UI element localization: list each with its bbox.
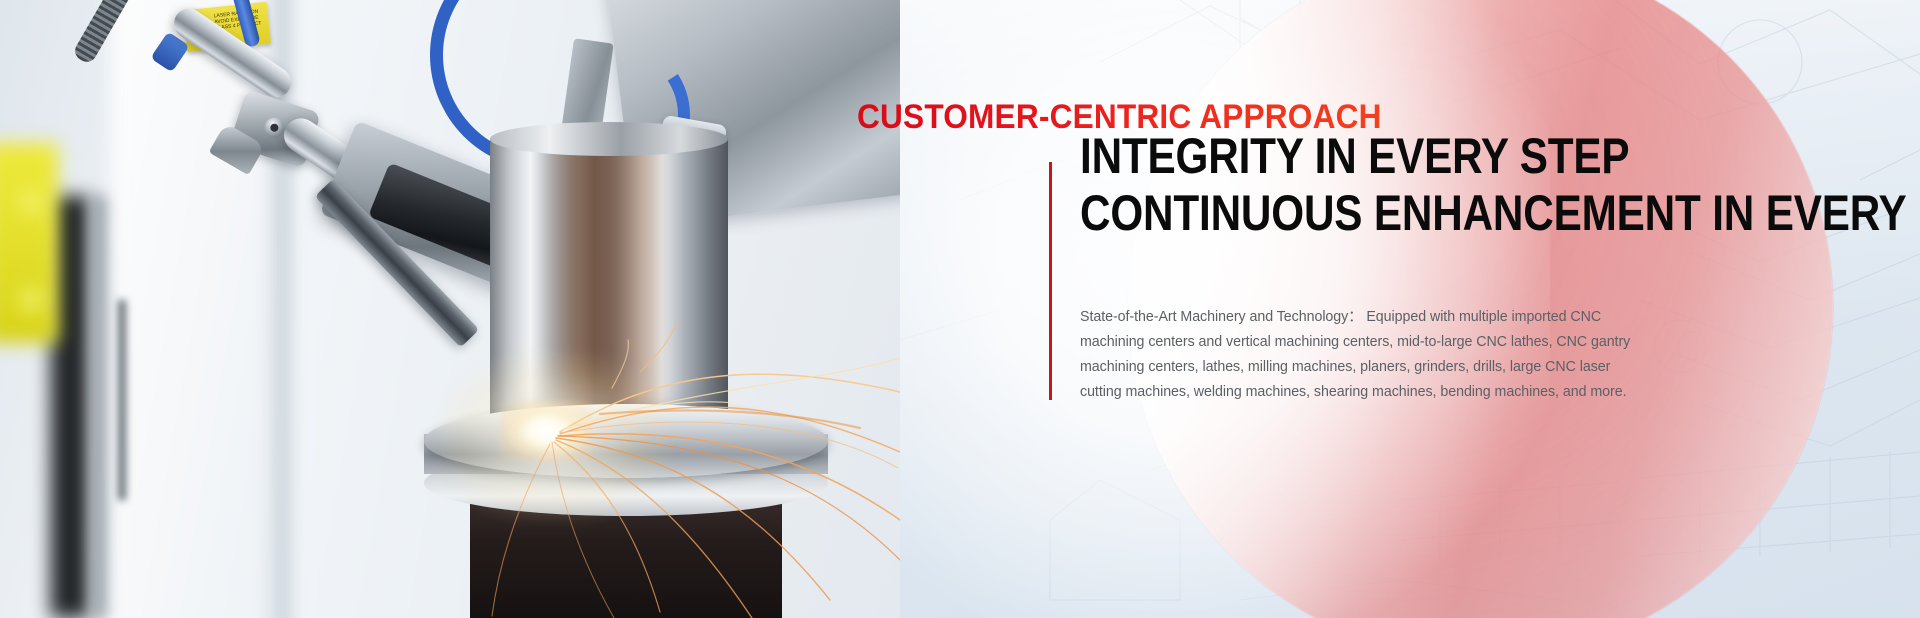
headline-group: INTEGRITY IN EVERY STEP CONTINUOUS ENHAN…	[1080, 128, 1920, 242]
headline-line-2: CONTINUOUS ENHANCEMENT IN EVERY PROCESS	[1080, 185, 1920, 242]
headline-line-1: INTEGRITY IN EVERY STEP	[1080, 128, 1920, 185]
body-paragraph: State-of-the-Art Machinery and Technolog…	[1080, 305, 1660, 405]
body-line: machining centers and vertical machining…	[1080, 330, 1646, 355]
accent-bar	[1049, 162, 1052, 400]
hero-banner: LASER RADIATIONAVOID EXPOSURECLASS 4 PRO…	[0, 0, 1920, 618]
body-line: State-of-the-Art Machinery and Technolog…	[1080, 305, 1646, 330]
banner-content: CUSTOMER-CENTRIC APPROACH INTEGRITY IN E…	[0, 0, 1920, 618]
body-line: cutting machines, welding machines, shea…	[1080, 380, 1646, 405]
body-line: machining centers, lathes, milling machi…	[1080, 355, 1646, 380]
